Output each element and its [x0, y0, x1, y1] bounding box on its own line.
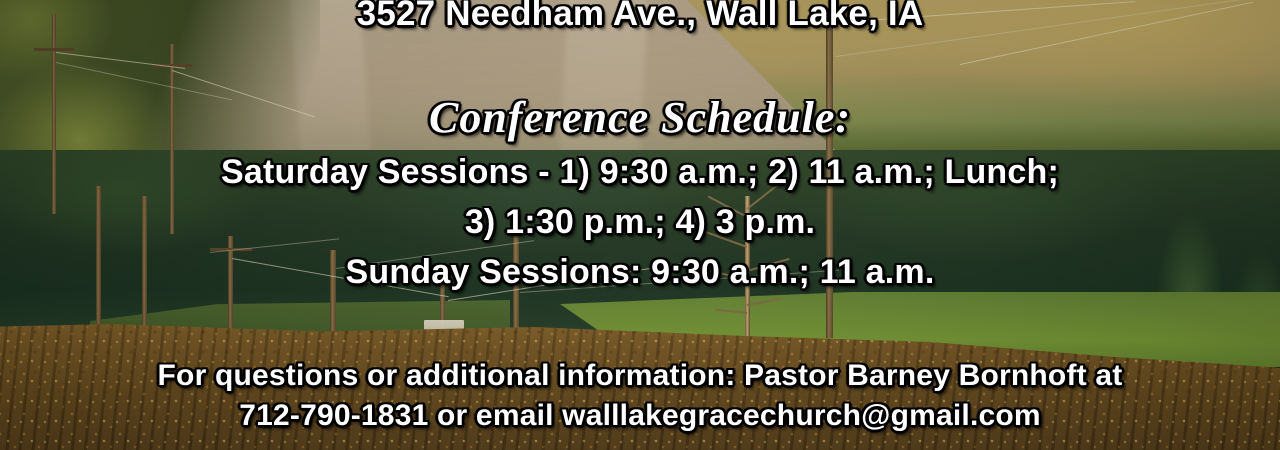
text-overlay: 3527 Needham Ave., Wall Lake, IA Confere…: [0, 0, 1280, 450]
sunday-sessions-line: Sunday Sessions: 9:30 a.m.; 11 a.m.: [0, 253, 1280, 292]
schedule-heading: Conference Schedule:: [0, 92, 1280, 143]
saturday-sessions-line-1: Saturday Sessions - 1) 9:30 a.m.; 2) 11 …: [0, 153, 1280, 192]
address-line: 3527 Needham Ave., Wall Lake, IA: [0, 0, 1280, 34]
contact-line-2: 712-790-1831 or email walllakegracechurc…: [0, 399, 1280, 433]
contact-line-1: For questions or additional information:…: [0, 359, 1280, 393]
saturday-sessions-line-2: 3) 1:30 p.m.; 4) 3 p.m.: [0, 203, 1280, 242]
conference-banner: 3527 Needham Ave., Wall Lake, IA Confere…: [0, 0, 1280, 450]
